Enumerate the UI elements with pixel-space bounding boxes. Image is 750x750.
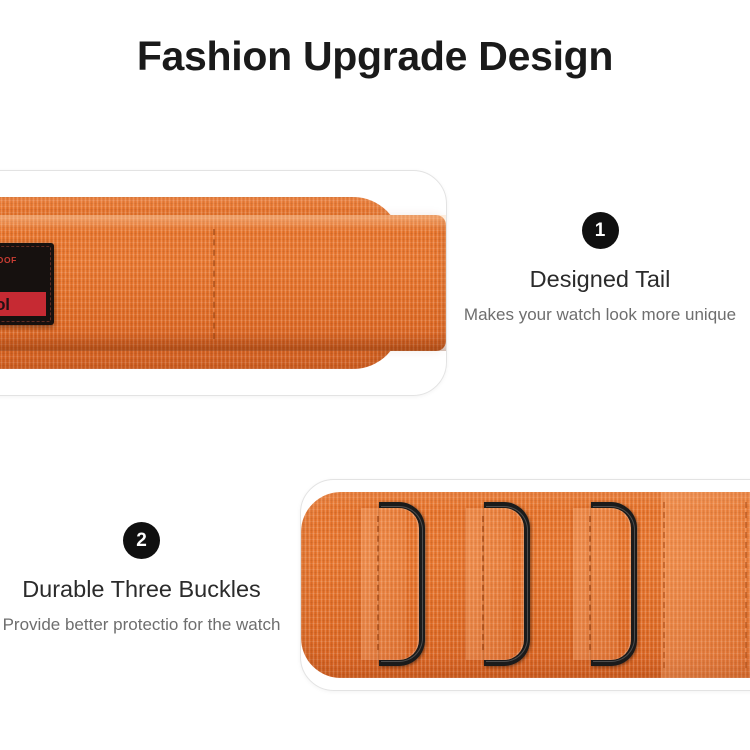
overlap-seam-right [745, 502, 747, 668]
label-top-row: KB 05 SWEATPROOF DURABLE TENACITY [0, 250, 46, 292]
page-title: Fashion Upgrade Design [0, 30, 750, 82]
label-spec-2: DURABLE [0, 266, 17, 277]
strap-tail [0, 215, 446, 351]
feature-block-three-buckles: 2 Durable Three Buckles Provide better p… [0, 522, 283, 637]
designed-tail-photo-card: KB 05 SWEATPROOF DURABLE TENACITY Kalebo… [0, 170, 447, 396]
three-buckles-photo-card [300, 479, 750, 691]
buckle-loop-3 [591, 502, 637, 666]
label-brand-band: Kalebol [0, 292, 46, 316]
feature-title-2: Durable Three Buckles [0, 575, 283, 603]
feature-description-2: Provide better protectio for the watch [0, 612, 283, 637]
brand-name: Kalebol [0, 296, 10, 313]
infographic-page: Fashion Upgrade Design KB 05 SWEATPROOF … [0, 0, 750, 750]
feature-block-designed-tail: 1 Designed Tail Makes your watch look mo… [460, 212, 740, 327]
label-spec-1: SWEATPROOF [0, 255, 17, 266]
overlap-seam-left [663, 502, 665, 668]
buckle-loop-1 [379, 502, 425, 666]
buckle-loop-2 [484, 502, 530, 666]
label-spec-list: SWEATPROOF DURABLE TENACITY [0, 255, 17, 288]
feature-badge-2: 2 [123, 522, 160, 559]
label-spec-3: TENACITY [0, 277, 17, 288]
strap-overlap-layer [661, 492, 750, 678]
feature-badge-1: 1 [582, 212, 619, 249]
brand-label-patch: KB 05 SWEATPROOF DURABLE TENACITY Kalebo… [0, 243, 54, 325]
feature-description-1: Makes your watch look more unique [460, 302, 740, 327]
feature-title-1: Designed Tail [460, 265, 740, 293]
strap-seam-stitching [213, 229, 215, 339]
